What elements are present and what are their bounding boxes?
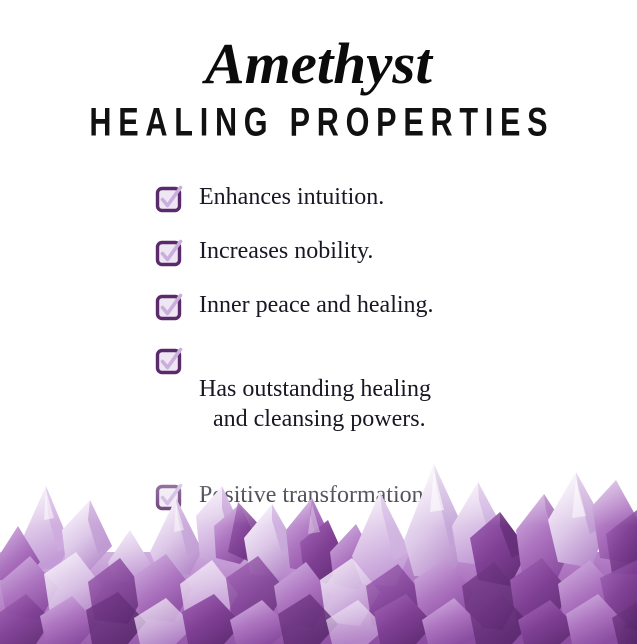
amethyst-poster: Amethyst HEALING PROPERTIES Enhances int… (0, 0, 637, 644)
checkbox-checked-icon (155, 292, 185, 322)
list-item-label: Enhances intuition. (185, 182, 384, 212)
checkbox-checked-icon (155, 346, 185, 376)
list-item-label-line1: Has outstanding healing (199, 376, 431, 402)
checkbox-checked-icon (155, 238, 185, 268)
list-item: Increases nobility. (155, 236, 575, 268)
page-title: Amethyst (0, 34, 637, 94)
list-item-label-line2: and cleansing powers. (199, 404, 431, 434)
page-subtitle: HEALING PROPERTIES (32, 100, 605, 145)
amethyst-crystal-cluster-photo (0, 434, 637, 644)
poster-header: Amethyst HEALING PROPERTIES (0, 34, 637, 138)
list-item: Inner peace and healing. (155, 290, 575, 322)
list-item-label: Inner peace and healing. (185, 290, 434, 320)
list-item-label: Increases nobility. (185, 236, 373, 266)
checkbox-checked-icon (155, 184, 185, 214)
list-item: Enhances intuition. (155, 182, 575, 214)
